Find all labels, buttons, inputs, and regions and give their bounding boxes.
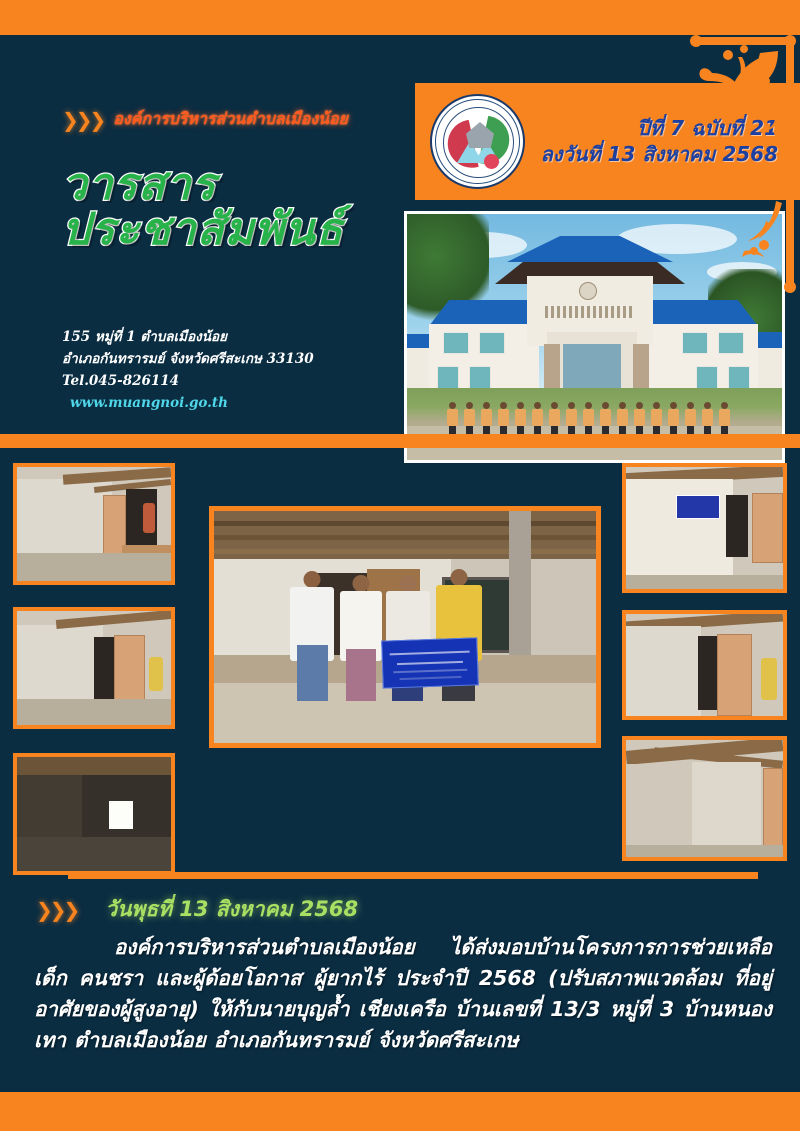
collage-photo-left-3 [13,753,175,875]
issue-info-box: ปีที่ 7 ฉบับที่ 21 ลงวันที่ 13 สิงหาคม 2… [415,83,800,200]
handover-project-sign [381,637,479,688]
website-link[interactable]: www.muangnoi.go.th [62,393,314,415]
address-line-2: อำเภอกันทรารมย์ จังหวัดศรีสะเกษ 33130 [62,349,314,371]
collage-photo-center-handover-ceremony [209,506,601,748]
newsletter-page: ❯❯❯ องค์การบริหารส่วนตำบลเมืองน้อย วารสา… [0,0,800,1131]
triple-chevron-right-icon: ❯❯❯ [62,110,103,130]
organization-name: องค์การบริหารส่วนตำบลเมืองน้อย [113,107,348,132]
bottom-orange-bar [0,1092,800,1131]
section-divider-bar [0,434,800,448]
photo-collage [0,448,800,868]
masthead-line-1: วารสาร [62,159,216,210]
article-separator-bar [68,872,758,879]
collage-photo-right-2 [622,610,787,720]
collage-photo-right-3 [622,736,787,861]
article-body: องค์การบริหารส่วนตำบลเมืองน้อย ได้ส่งมอบ… [34,932,772,1057]
collage-photo-right-1 [622,463,787,593]
header-section: ❯❯❯ องค์การบริหารส่วนตำบลเมืองน้อย วารสา… [0,35,800,434]
article-date: วันพุธที่ 13 สิงหาคม 2568 [105,893,358,926]
address-line-1: 155 หมู่ที่ 1 ตำบลเมืองน้อย [62,327,314,349]
issue-text-group: ปีที่ 7 ฉบับที่ 21 ลงวันที่ 13 สิงหาคม 2… [525,116,800,167]
issue-number: ปีที่ 7 ฉบับที่ 21 [525,116,778,142]
article-date-line: ❯❯❯ วันพุธที่ 13 สิงหาคม 2568 [36,893,358,926]
top-orange-bar [0,0,800,35]
address-block: 155 หมู่ที่ 1 ตำบลเมืองน้อย อำเภอกันทราร… [62,327,314,414]
issue-date: ลงวันที่ 13 สิงหาคม 2568 [525,142,778,168]
telephone-line: Tel.045-826114 [62,371,314,393]
masthead-title: วารสาร ประชาสัมพันธ์ [62,163,344,251]
masthead-line-2: ประชาสัมพันธ์ [62,208,344,251]
hero-photo-office-building [404,211,785,463]
collage-photo-left-2 [13,607,175,729]
collage-photo-left-1 [13,463,175,585]
muangnoi-sao-seal-logo-icon [430,94,525,189]
triple-chevron-right-icon: ❯❯❯ [36,900,77,920]
organization-line: ❯❯❯ องค์การบริหารส่วนตำบลเมืองน้อย [62,107,348,132]
